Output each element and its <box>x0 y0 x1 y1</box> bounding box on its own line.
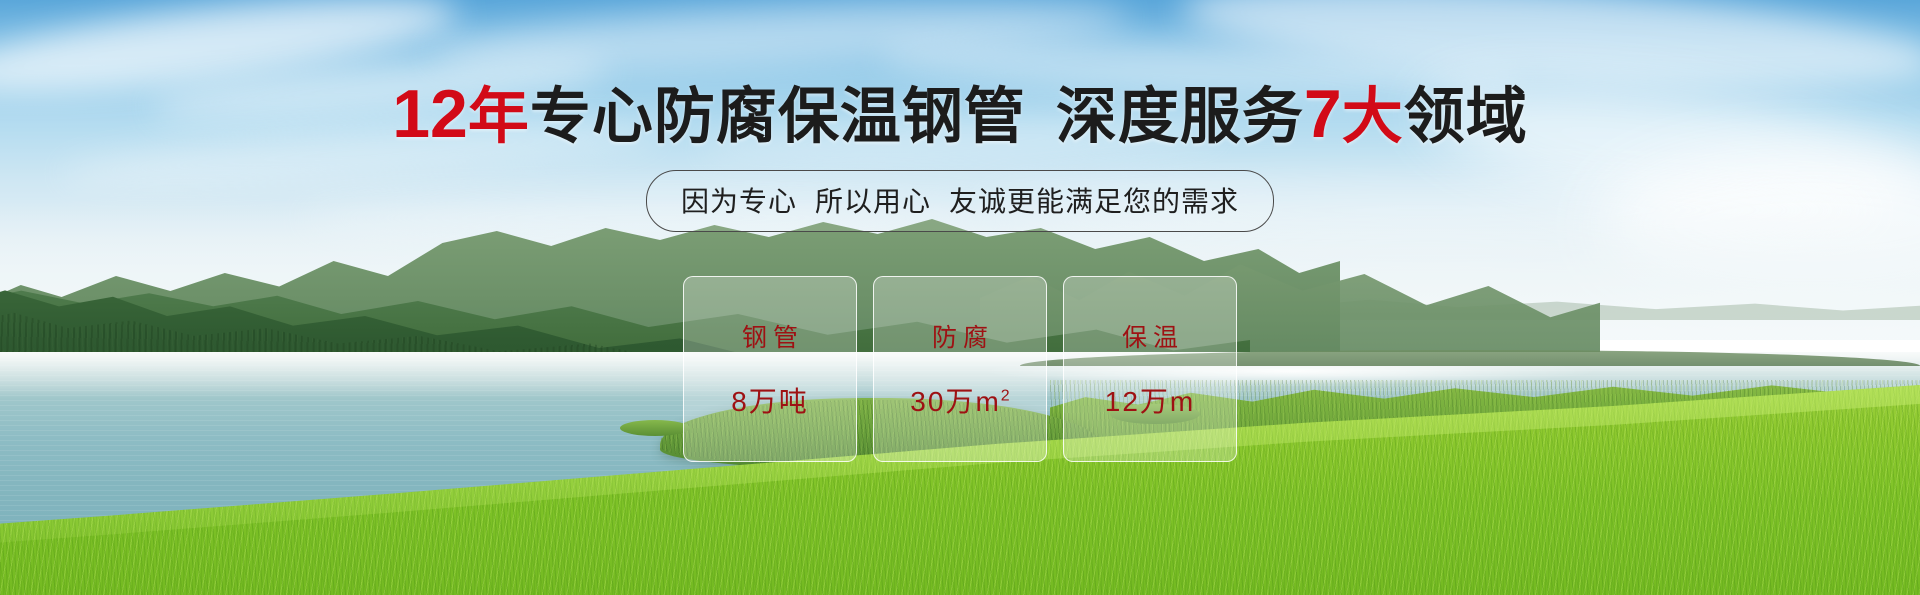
stat-card-value: 8万吨 <box>731 380 809 420</box>
headline-service-text: 深度服务 <box>1056 82 1304 150</box>
stat-card-value-text: 8万吨 <box>731 386 809 417</box>
headline-fields-text: 领域 <box>1404 82 1528 150</box>
subtitle-part-2: 所以用心 <box>815 186 931 217</box>
headline: 12年专心防腐保温钢管深度服务7大领域 <box>392 80 1528 148</box>
headline-main-text: 专心防腐保温钢管 <box>530 82 1026 150</box>
stat-card-value-text: 30万m <box>910 386 1000 417</box>
subtitle-part-1: 因为专心 <box>681 186 797 217</box>
stat-card-insulation: 保温 12万m <box>1063 276 1237 462</box>
stat-card-value-sup: 2 <box>1001 388 1010 405</box>
stat-card-title: 钢管 <box>736 318 804 354</box>
stat-card-value: 12万m <box>1105 380 1195 420</box>
headline-years-number: 12 <box>392 76 468 152</box>
banner-content: 12年专心防腐保温钢管深度服务7大领域 因为专心所以用心友诚更能满足您的需求 钢… <box>0 0 1920 595</box>
headline-years-unit: 年 <box>468 82 530 150</box>
headline-fields-number: 7 <box>1304 76 1342 152</box>
subtitle-pill: 因为专心所以用心友诚更能满足您的需求 <box>646 170 1274 232</box>
promo-banner: 12年专心防腐保温钢管深度服务7大领域 因为专心所以用心友诚更能满足您的需求 钢… <box>0 0 1920 595</box>
stat-card-value-text: 12万m <box>1105 386 1195 417</box>
stat-card-title: 防腐 <box>926 318 994 354</box>
subtitle-part-3: 友诚更能满足您的需求 <box>949 186 1239 217</box>
stat-cards: 钢管 8万吨 防腐 30万m2 保温 12万m <box>683 276 1237 462</box>
stat-card-value: 30万m2 <box>910 380 1009 420</box>
stat-card-title: 保温 <box>1116 318 1184 354</box>
stat-card-steel-pipe: 钢管 8万吨 <box>683 276 857 462</box>
stat-card-anticorrosion: 防腐 30万m2 <box>873 276 1047 462</box>
headline-fields-unit: 大 <box>1342 82 1404 150</box>
